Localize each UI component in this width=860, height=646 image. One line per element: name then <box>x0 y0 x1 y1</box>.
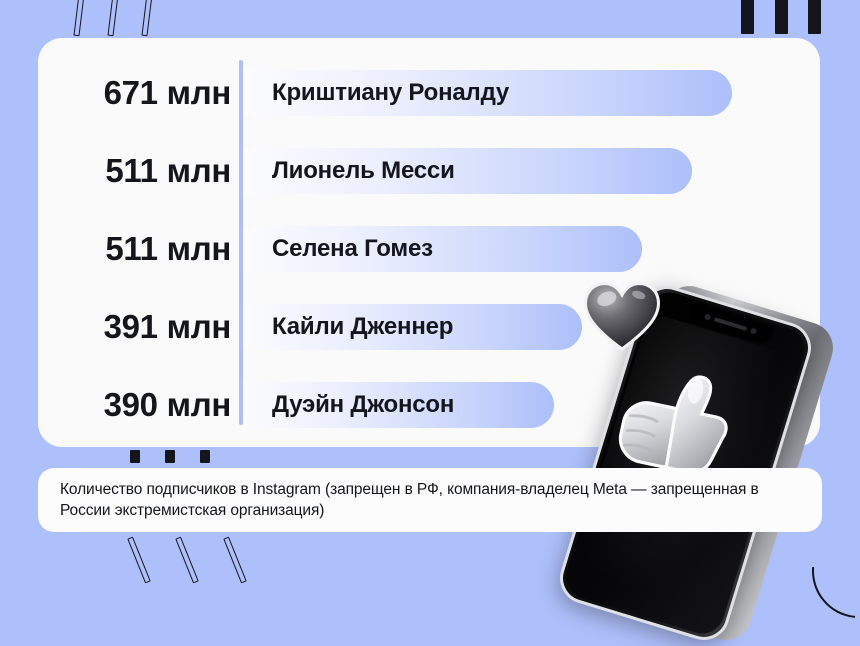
follower-count-value: 511 млн <box>38 226 231 272</box>
follower-count-value: 391 млн <box>38 304 231 350</box>
table-row: 511 млн Лионель Месси <box>38 148 820 194</box>
follower-count-value: 390 млн <box>38 382 231 428</box>
table-row: 390 млн Дуэйн Джонсон <box>38 382 820 428</box>
decorative-bar-top-right-1 <box>741 0 754 34</box>
decorative-tick-top-left-2 <box>107 0 118 36</box>
decorative-tick-bottom-left-1 <box>127 537 151 584</box>
decorative-tick-top-left-1 <box>73 0 84 36</box>
celebrity-name: Селена Гомез <box>272 226 433 272</box>
celebrity-name: Кайли Дженнер <box>272 304 453 350</box>
decorative-tick-bottom-left-3 <box>223 537 247 584</box>
celebrity-name: Дуэйн Джонсон <box>272 382 454 428</box>
decorative-bar-top-right-2 <box>775 0 788 34</box>
follower-count-value: 511 млн <box>38 148 231 194</box>
follower-count-value: 671 млн <box>38 70 231 116</box>
caption-card: Количество подписчиков в Instagram (запр… <box>38 468 822 532</box>
celebrity-name: Лионель Месси <box>272 148 455 194</box>
caption-text: Количество подписчиков в Instagram (запр… <box>60 479 800 521</box>
ranking-rows: 671 млн Криштиану Роналду 511 млн Лионел… <box>38 38 820 447</box>
celebrity-name: Криштиану Роналду <box>272 70 509 116</box>
decorative-tick-mid-2 <box>165 450 175 463</box>
ranking-card: 671 млн Криштиану Роналду 511 млн Лионел… <box>38 38 820 447</box>
decorative-bar-top-right-3 <box>808 0 821 34</box>
decorative-tick-mid-3 <box>200 450 210 463</box>
decorative-tick-bottom-left-2 <box>175 537 199 584</box>
decorative-tick-top-left-3 <box>141 0 152 36</box>
decorative-tick-mid-1 <box>130 450 140 463</box>
table-row: 671 млн Криштиану Роналду <box>38 70 820 116</box>
table-row: 391 млн Кайли Дженнер <box>38 304 820 350</box>
table-row: 511 млн Селена Гомез <box>38 226 820 272</box>
